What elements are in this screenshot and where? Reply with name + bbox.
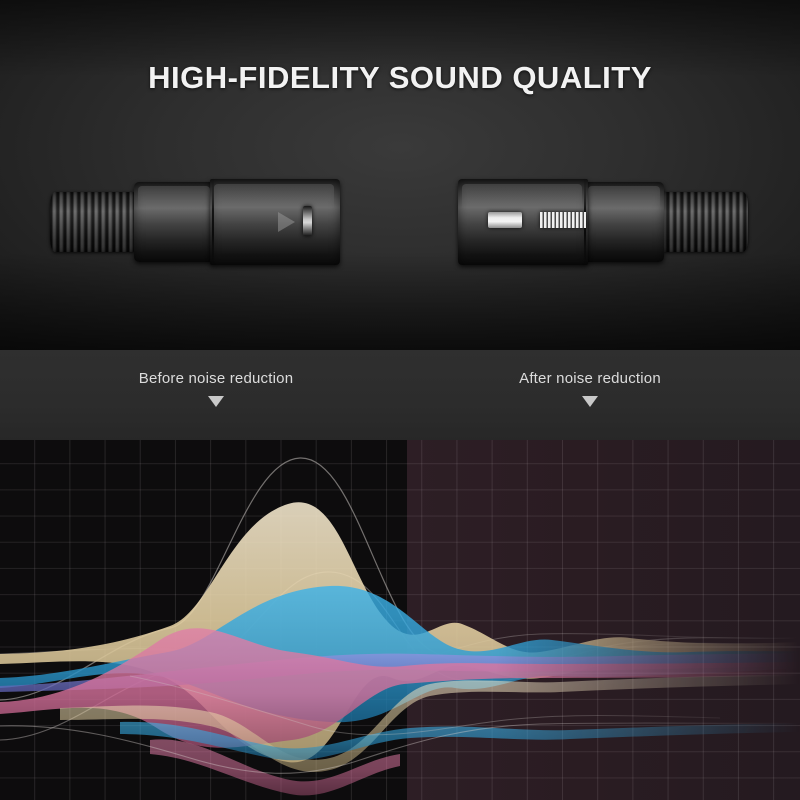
strain-relief-boot-left (50, 192, 138, 252)
product-infographic: HIGH-FIDELITY SOUND QUALITY (0, 0, 800, 800)
after-label-group: After noise reduction (410, 370, 770, 407)
connector-seam-left (212, 179, 214, 265)
strain-relief-boot-right (660, 192, 748, 252)
knurled-grip-strip (540, 212, 586, 228)
hero-product-panel: HIGH-FIDELITY SOUND QUALITY (0, 0, 800, 350)
triangle-down-icon (582, 396, 598, 407)
latch-release-button (488, 212, 522, 228)
connector-head-left (210, 179, 340, 265)
triangle-down-icon (208, 396, 224, 407)
xlr-male-connector (46, 176, 346, 268)
waveform-visualization (0, 440, 800, 800)
triangle-arrow-icon (278, 212, 295, 232)
connector-mid-barrel-right (584, 182, 664, 262)
xlr-female-connector (452, 176, 752, 268)
waveform-curves (0, 440, 800, 800)
comparison-label-band: Before noise reduction After noise reduc… (0, 350, 800, 440)
connector-mid-barrel-left (134, 182, 214, 262)
latch-pin-left (303, 206, 312, 236)
before-label: Before noise reduction (36, 370, 396, 387)
page-title: HIGH-FIDELITY SOUND QUALITY (0, 60, 800, 96)
before-label-group: Before noise reduction (36, 370, 396, 407)
after-label: After noise reduction (410, 370, 770, 387)
